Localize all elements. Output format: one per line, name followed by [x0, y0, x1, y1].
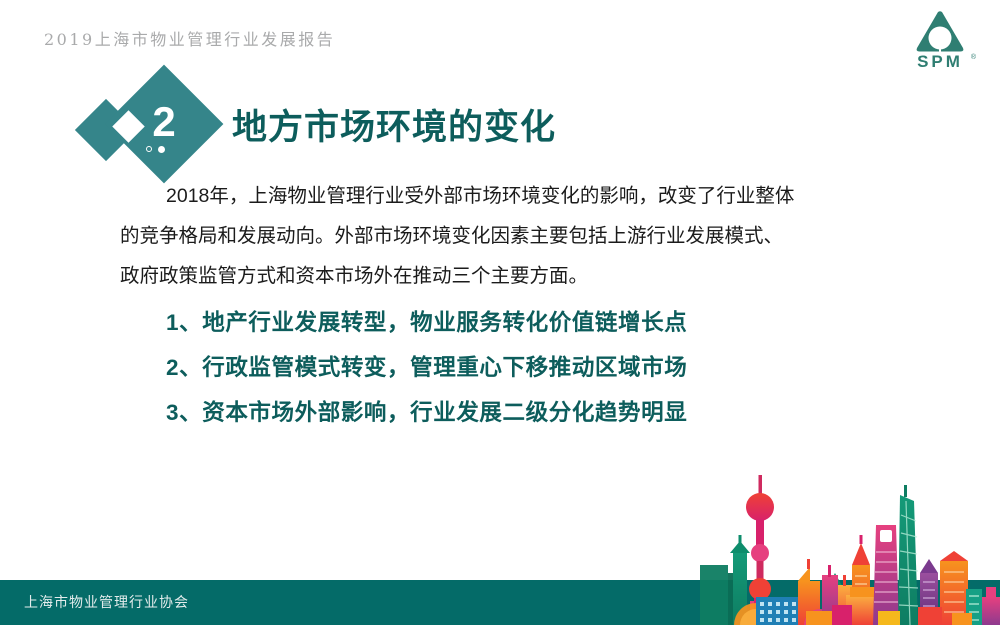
report-header-title: 2019上海市物业管理行业发展报告: [44, 26, 335, 50]
svg-text:SPM: SPM: [917, 52, 963, 70]
section-number-badge: 2: [84, 82, 228, 178]
section-title: 地方市场环境的变化: [232, 99, 556, 150]
registered-mark: ®: [971, 54, 976, 61]
key-points-list: 1、地产行业发展转型，物业服务转化价值链增长点 2、行政监管模式转变，管理重心下…: [166, 300, 926, 435]
footer-organization-name: 上海市物业管理行业协会: [24, 592, 189, 612]
section-heading: 2 地方市场环境的变化: [0, 82, 1000, 178]
list-item: 3、资本市场外部影响，行业发展二级分化趋势明显: [166, 390, 926, 435]
spm-logo-triangle-icon: [917, 11, 964, 52]
badge-progress-dots: [146, 144, 186, 154]
body-line-3: 政府政策监管方式和资本市场外在推动三个主要方面。: [120, 256, 892, 296]
dot-solid-icon: [158, 146, 165, 153]
spm-logo: SPM ®: [902, 8, 978, 70]
body-paragraph: 2018年，上海物业管理行业受外部市场环境变化的影响，改变了行业整体 的竞争格局…: [120, 176, 892, 296]
dot-hollow-icon: [146, 146, 152, 152]
list-item: 1、地产行业发展转型，物业服务转化价值链增长点: [166, 300, 926, 345]
body-line-2: 的竞争格局和发展动向。外部市场环境变化因素主要包括上游行业发展模式、: [120, 216, 892, 256]
body-line-1: 2018年，上海物业管理行业受外部市场环境变化的影响，改变了行业整体: [120, 176, 892, 216]
page-header: 2019上海市物业管理行业发展报告 SPM ®: [0, 0, 1000, 78]
list-item: 2、行政监管模式转变，管理重心下移推动区域市场: [166, 345, 926, 390]
